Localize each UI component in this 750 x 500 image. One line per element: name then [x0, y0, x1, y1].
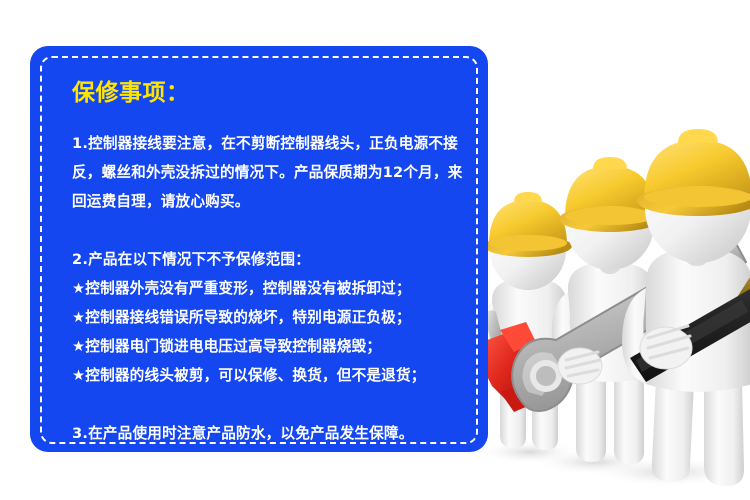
panel-content: 保修事项： 1.控制器接线要注意，在不剪断控制器线头，正负电源不接反，螺丝和外壳…	[54, 70, 470, 436]
workers-illustration	[470, 0, 750, 500]
list-item: ★控制器的线头被剪，可以保修、换货，但不是退货；	[72, 361, 470, 390]
hand	[558, 348, 602, 384]
list-item: ★控制器电门锁进电电压过高导致控制器烧毁；	[72, 332, 470, 361]
page-title: 保修事项：	[72, 78, 470, 108]
warranty-paragraph-1: 1.控制器接线要注意，在不剪断控制器线头，正负电源不接反，螺丝和外壳没拆过的情况…	[72, 129, 476, 216]
list-item: ★控制器接线错误所导致的烧坏，特别电源正负极；	[72, 303, 470, 332]
warranty-paragraph-3: 3.在产品使用时注意产品防水，以免产品发生保障。	[72, 419, 470, 448]
hard-hat-icon	[637, 129, 750, 216]
list-item: ★控制器外壳没有严重变形，控制器没有被拆卸过；	[72, 274, 470, 303]
hand	[640, 326, 692, 369]
hard-hat-icon	[484, 192, 572, 257]
warranty-panel: 保修事项： 1.控制器接线要注意，在不剪断控制器线头，正负电源不接反，螺丝和外壳…	[30, 46, 488, 452]
warranty-banner: 保修事项： 1.控制器接线要注意，在不剪断控制器线头，正负电源不接反，螺丝和外壳…	[0, 0, 750, 500]
warranty-paragraph-2-heading: 2.产品在以下情况下不予保修范围：	[72, 245, 470, 274]
